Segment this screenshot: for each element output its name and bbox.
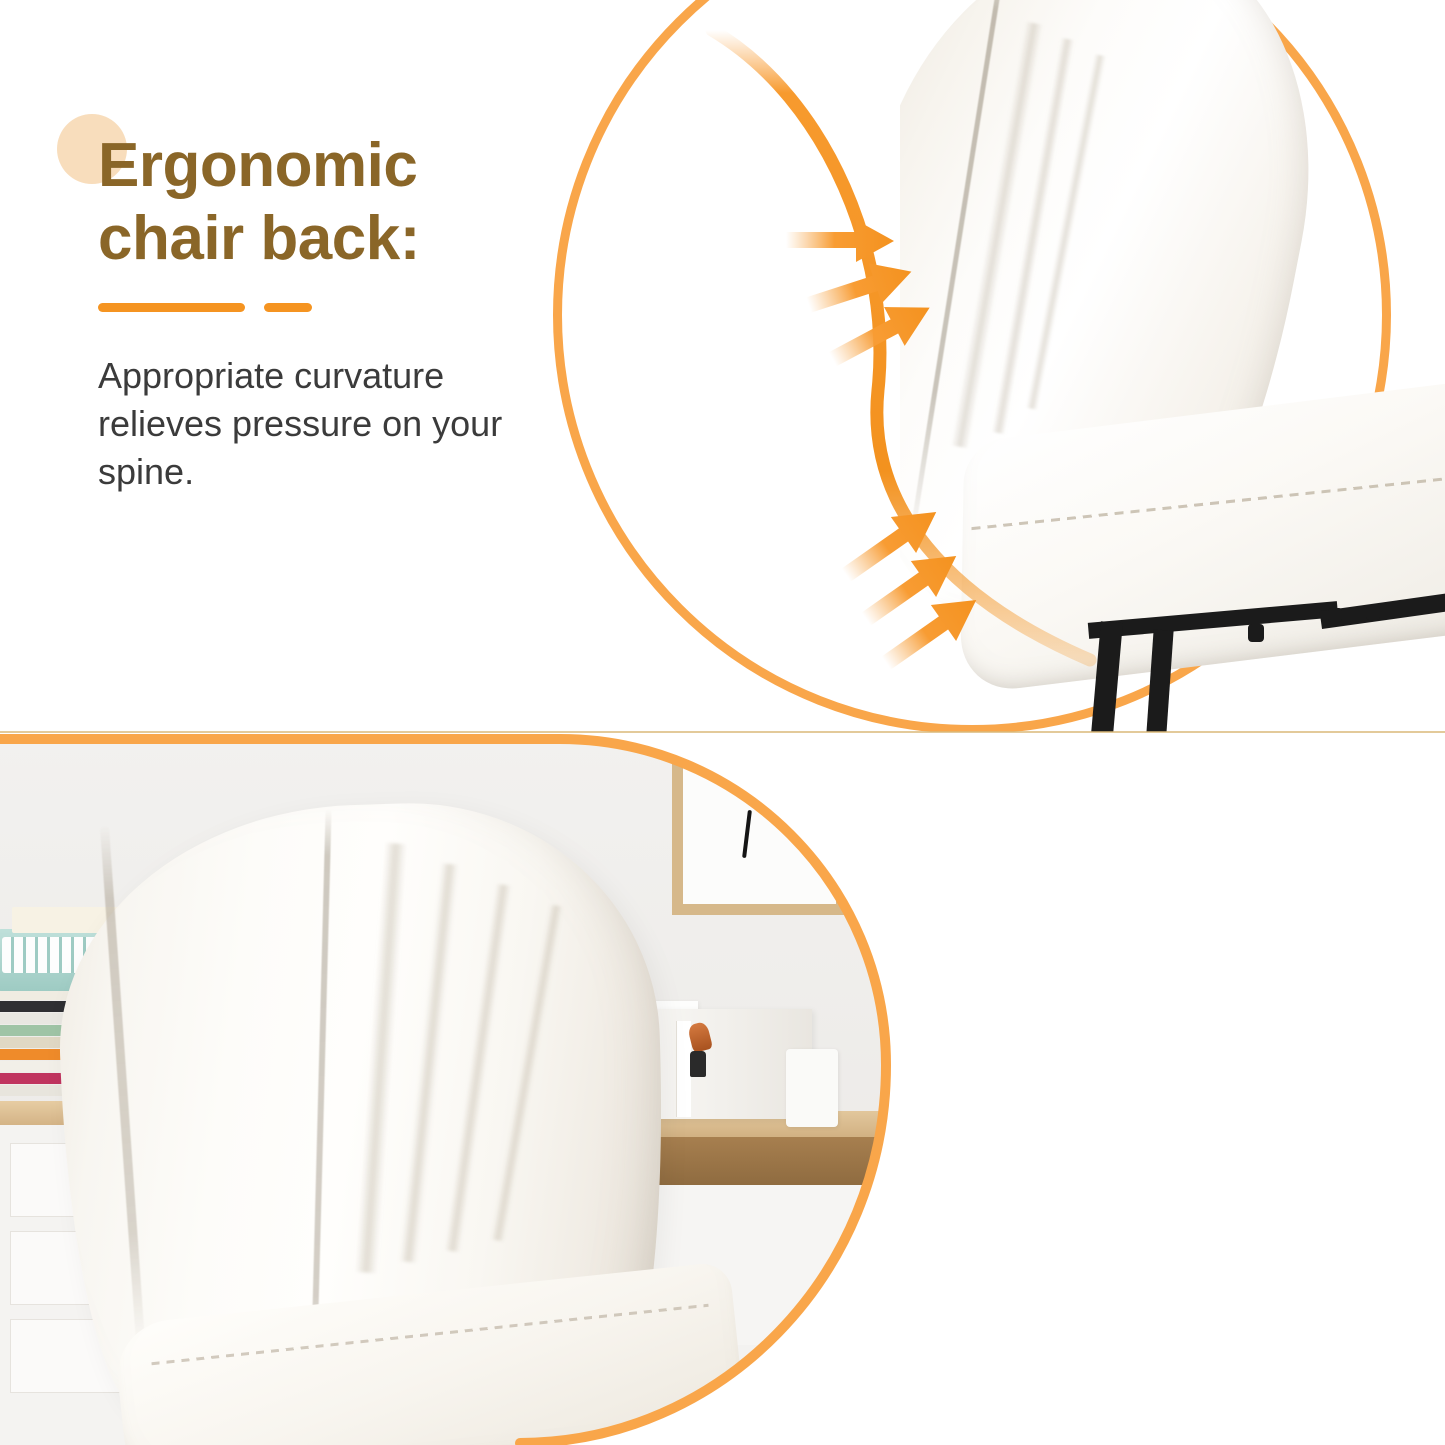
divider-1 bbox=[98, 303, 568, 312]
top-feature-panel: Ergonomic chair back: Appropriate curvat… bbox=[0, 0, 1445, 732]
leg-bracket bbox=[1328, 608, 1342, 622]
desk-leg bbox=[862, 1185, 888, 1445]
leg-bracket bbox=[1366, 606, 1380, 620]
picture-frame bbox=[672, 755, 847, 915]
bottom-feature-panel: Textured folds for a stylish look. bbox=[0, 733, 1445, 1445]
divider-segment-short bbox=[264, 303, 312, 312]
leg-bracket bbox=[1248, 624, 1264, 642]
divider-segment-long bbox=[98, 303, 245, 312]
lifestyle-photo bbox=[0, 733, 900, 1445]
product-infographic: Ergonomic chair back: Appropriate curvat… bbox=[0, 0, 1445, 1445]
bookend bbox=[786, 1049, 838, 1127]
brushstroke-art bbox=[742, 810, 752, 858]
feature-body-1: Appropriate curvature relieves pressure … bbox=[98, 352, 568, 496]
feature-text-block-1: Ergonomic chair back: Appropriate curvat… bbox=[98, 130, 568, 496]
feature-heading-1: Ergonomic chair back: bbox=[98, 130, 568, 275]
figurine bbox=[690, 1051, 706, 1077]
